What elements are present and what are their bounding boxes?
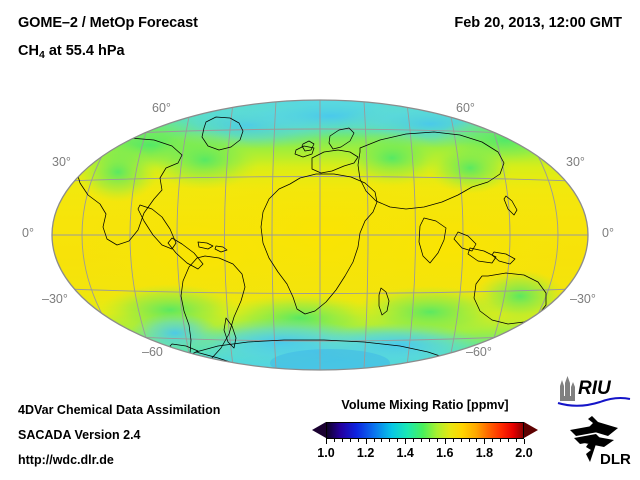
riu-logo: RIU [556, 374, 632, 408]
colorbar-minor-tick [421, 439, 422, 442]
colorbar-minor-tick [358, 439, 359, 442]
colorbar-minor-tick [437, 439, 438, 442]
colorbar-gradient [326, 422, 524, 439]
method-label: 4DVar Chemical Data Assimilation [18, 403, 220, 417]
lat-label-right-m30: –30° [570, 292, 596, 306]
lat-label-left-m60: –60 [142, 345, 163, 359]
colorbar-tick-labels: 1.01.21.41.61.82.0 [310, 446, 540, 466]
lat-label-right-60: 60° [456, 101, 475, 115]
colorbar-tick-label: 1.0 [317, 446, 334, 460]
colorbar-minor-tick [508, 439, 509, 442]
colorbar-tick [524, 439, 525, 444]
colorbar-tick-label: 1.4 [396, 446, 413, 460]
lat-label-left-m30: –30° [42, 292, 68, 306]
dlr-wordmark: DLR [600, 451, 631, 468]
colorbar-minor-tick [334, 439, 335, 442]
map-container: 60° 30° 0° –30° –60 60° 30° 0° –30° –60° [0, 0, 640, 400]
colorbar-minor-tick [413, 439, 414, 442]
colorbar-title: Volume Mixing Ratio [ppmv] [310, 398, 540, 412]
lat-label-left-0: 0° [22, 226, 34, 240]
colorbar-row [310, 420, 540, 442]
colorbar-minor-tick [429, 439, 430, 442]
colorbar-extend-max-arrow [524, 422, 538, 438]
colorbar-tick-label: 1.8 [476, 446, 493, 460]
colorbar-tick [484, 439, 485, 444]
colorbar-tick-label: 2.0 [515, 446, 532, 460]
riu-wordmark: RIU [578, 378, 612, 399]
colorbar-minor-tick [500, 439, 501, 442]
colorbar-minor-tick [461, 439, 462, 442]
colorbar-minor-tick [516, 439, 517, 442]
colorbar-tick [326, 439, 327, 444]
colorbar-tick [445, 439, 446, 444]
lat-label-right-m60: –60° [466, 345, 492, 359]
riu-spires-icon [560, 376, 575, 401]
colorbar-tick [405, 439, 406, 444]
colorbar-tick-label: 1.2 [357, 446, 374, 460]
dlr-logo: DLR [562, 414, 636, 472]
colorbar-minor-tick [476, 439, 477, 442]
colorbar-minor-tick [350, 439, 351, 442]
colorbar-tick [366, 439, 367, 444]
colorbar-minor-tick [397, 439, 398, 442]
website-url[interactable]: http://wdc.dlr.de [18, 453, 114, 467]
colorbar-minor-tick [453, 439, 454, 442]
colorbar-minor-tick [469, 439, 470, 442]
colorbar-minor-tick [381, 439, 382, 442]
colorbar: Volume Mixing Ratio [ppmv] 1.01.21.41.61… [310, 398, 540, 476]
mollweide-map [0, 0, 640, 400]
lat-label-right-30: 30° [566, 155, 585, 169]
colorbar-minor-tick [389, 439, 390, 442]
lat-label-right-0: 0° [602, 226, 614, 240]
colorbar-extend-min-arrow [312, 422, 326, 438]
colorbar-tick-label: 1.6 [436, 446, 453, 460]
lat-label-left-30: 30° [52, 155, 71, 169]
figure-canvas: GOME–2 / MetOp Forecast CH4 at 55.4 hPa … [0, 0, 640, 480]
colorbar-minor-tick [374, 439, 375, 442]
version-label: SACADA Version 2.4 [18, 428, 141, 442]
colorbar-minor-tick [492, 439, 493, 442]
lat-label-left-60: 60° [152, 101, 171, 115]
colorbar-minor-tick [342, 439, 343, 442]
